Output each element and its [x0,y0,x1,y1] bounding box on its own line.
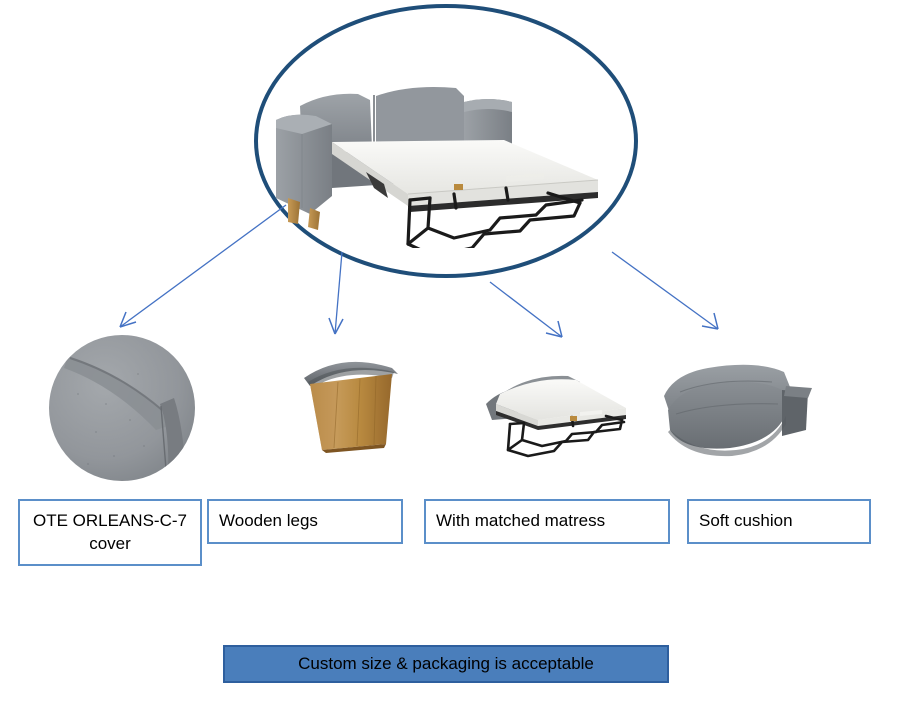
sofa-bed-pulled-out-image [258,48,642,248]
diagram-canvas: OTE ORLEANS-C-7 cover Wooden legs With m… [0,0,897,705]
caption-matched-matress[interactable]: With matched matress [424,499,670,544]
fabric-swatch-circle-image [48,334,196,482]
soft-cushion-image [656,358,818,460]
caption-wooden-legs[interactable]: Wooden legs [207,499,403,544]
mattress-frame-image [472,364,638,458]
custom-size-banner[interactable]: Custom size & packaging is acceptable [223,645,669,683]
caption-fabric[interactable]: OTE ORLEANS-C-7 cover [18,499,202,566]
arrow-to-leg [329,252,343,334]
caption-soft-cushion[interactable]: Soft cushion [687,499,871,544]
arrow-to-cushion [612,252,718,329]
wooden-leg-image [288,344,410,456]
arrow-to-mattress [490,282,562,337]
